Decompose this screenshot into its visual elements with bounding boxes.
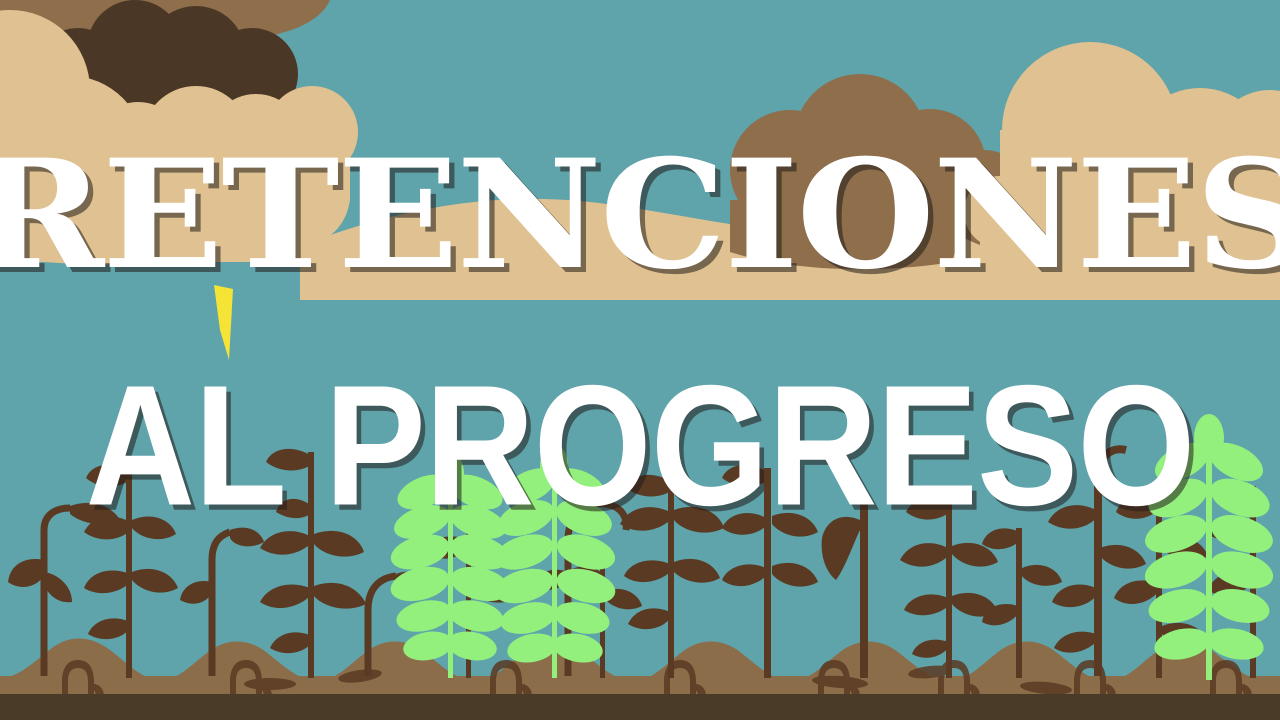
title-card: RETENCIONES AL PROGRESO: [0, 0, 1280, 720]
subsoil-band: [0, 694, 1280, 720]
scene-illustration: [0, 0, 1280, 720]
healthy-plant: [387, 452, 513, 678]
